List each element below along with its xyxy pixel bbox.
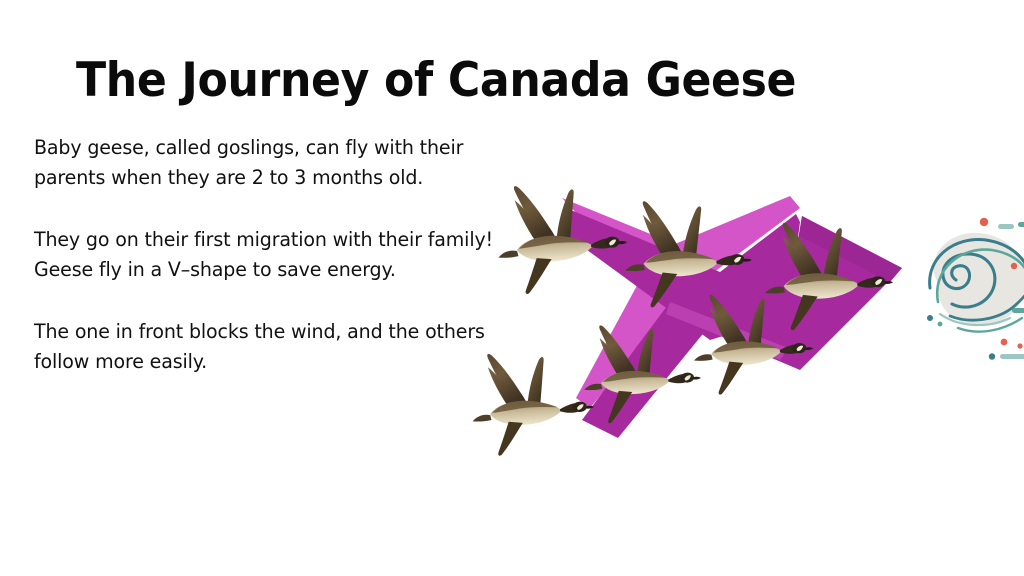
- paragraph-3: The one in front blocks the wind, and th…: [34, 317, 517, 376]
- purple-chevron-arrow: [562, 196, 902, 438]
- page-title: The Journey of Canada Geese: [76, 54, 796, 108]
- teal-dash-accent: [988, 352, 1024, 361]
- goose-upper-left: [494, 179, 631, 296]
- geese-v-formation-illustration: [470, 170, 900, 470]
- slide-canvas: The Journey of Canada Geese Baby geese, …: [0, 0, 1024, 576]
- goose-lower-left: [468, 347, 597, 458]
- body-copy: Baby geese, called goslings, can fly wit…: [34, 133, 529, 376]
- paragraph-1: Baby geese, called goslings, can fly wit…: [34, 133, 517, 192]
- paragraph-2: They go on their first migration with th…: [34, 225, 517, 284]
